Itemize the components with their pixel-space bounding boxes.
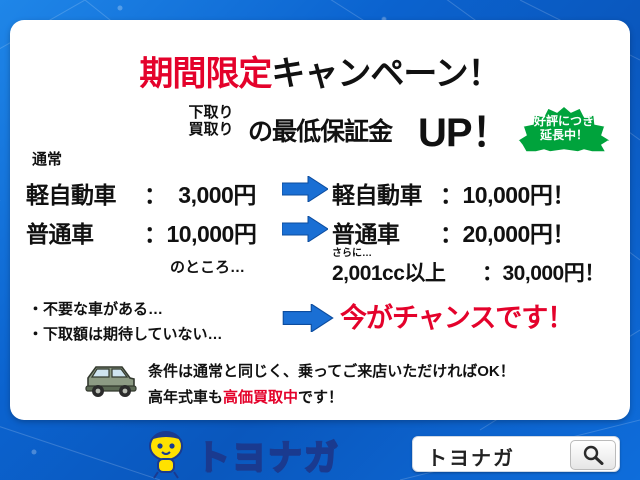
arrow-right-icon-2 <box>282 216 328 242</box>
page-title: 期間限定キャンペーン！ <box>10 46 630 95</box>
old-price-normal-value: 10,000円 <box>167 221 257 247</box>
badge-text: 好評につき 延長中！ <box>518 114 610 142</box>
up-label: UP！ <box>418 100 511 158</box>
old-price-kei-row: 軽自動車： 3,000円 <box>26 176 256 210</box>
bullet-item-1: ・不要な車がある… <box>28 298 163 319</box>
magnifier-icon <box>582 445 604 465</box>
conditions-line-2-pre: 高年式車も <box>148 389 223 406</box>
trade-in-buy-label: 下取り 買取り <box>172 104 250 138</box>
new-price-normal-sep: ： <box>440 221 463 247</box>
mascot-icon <box>140 426 192 480</box>
new-price-kei-value: 10,000円！ <box>463 182 575 208</box>
branding-bar: トヨナガ トヨナガ <box>0 424 640 480</box>
buy-up-label: 買取り <box>172 121 250 138</box>
subheadline-row: 下取り 買取り の最低保証金 UP！ 好評につき 延長中！ <box>10 100 630 160</box>
new-price-large-label: 2,001cc以上 <box>332 257 482 287</box>
conditions-line-1: 条件は通常と同じく、乗ってご来店いただければOK！ <box>148 360 515 381</box>
new-price-normal-value: 20,000円！ <box>463 221 575 247</box>
arrow-right-icon-1 <box>282 176 328 202</box>
conditions-line-2: 高年式車も高価買取中です！ <box>148 386 343 407</box>
car-icon <box>80 358 142 400</box>
old-price-kei-sep: ： <box>144 182 167 208</box>
normal-price-caption: 通常 <box>32 148 62 169</box>
flyer-canvas: 期間限定キャンペーン！ 下取り 買取り の最低保証金 UP！ 好評につき 延長中… <box>0 0 640 480</box>
old-price-normal-sep: ： <box>144 221 167 247</box>
trade-in-label: 下取り <box>172 104 250 121</box>
search-input[interactable]: トヨナガ <box>427 442 515 471</box>
search-button[interactable] <box>570 440 616 470</box>
extension-badge: 好評につき 延長中！ <box>518 106 610 152</box>
headline-black-part: キャンペーン！ <box>271 55 500 93</box>
old-price-kei-label: 軽自動車 <box>26 176 144 210</box>
new-price-kei-label: 軽自動車 <box>332 176 440 210</box>
search-box[interactable]: トヨナガ <box>412 436 620 472</box>
notokoro-note: のところ… <box>170 256 245 277</box>
old-price-normal-label: 普通車 <box>26 215 144 249</box>
white-content-panel: 期間限定キャンペーン！ 下取り 買取り の最低保証金 UP！ 好評につき 延長中… <box>10 20 630 420</box>
chance-callout: 今がチャンスです！ <box>340 296 573 335</box>
badge-line-1: 好評につき <box>518 114 610 128</box>
new-price-kei-sep: ： <box>440 182 463 208</box>
old-price-kei-value: 3,000円 <box>178 182 256 208</box>
bullet-item-2: ・下取額は期待していない… <box>28 323 223 344</box>
arrow-right-icon-3 <box>282 304 334 332</box>
old-price-normal-row: 普通車：10,000円 <box>26 215 256 249</box>
conditions-line-2-highlight: 高価買取中 <box>223 389 298 406</box>
new-price-large-row: 2,001cc以上：30,000円！ <box>332 257 605 287</box>
new-price-kei-row: 軽自動車：10,000円！ <box>332 176 575 210</box>
headline-red-part: 期間限定 <box>139 55 271 93</box>
minimum-guarantee-label: の最低保証金 <box>248 112 392 148</box>
car-illustration <box>80 358 142 400</box>
mascot-bird-icon <box>140 426 192 480</box>
company-logo-text: トヨナガ <box>196 430 340 479</box>
new-price-large-value: 30,000円！ <box>503 262 605 285</box>
new-price-large-sep: ： <box>482 262 503 285</box>
badge-line-2: 延長中！ <box>518 128 610 142</box>
conditions-line-2-post: です！ <box>298 389 343 406</box>
